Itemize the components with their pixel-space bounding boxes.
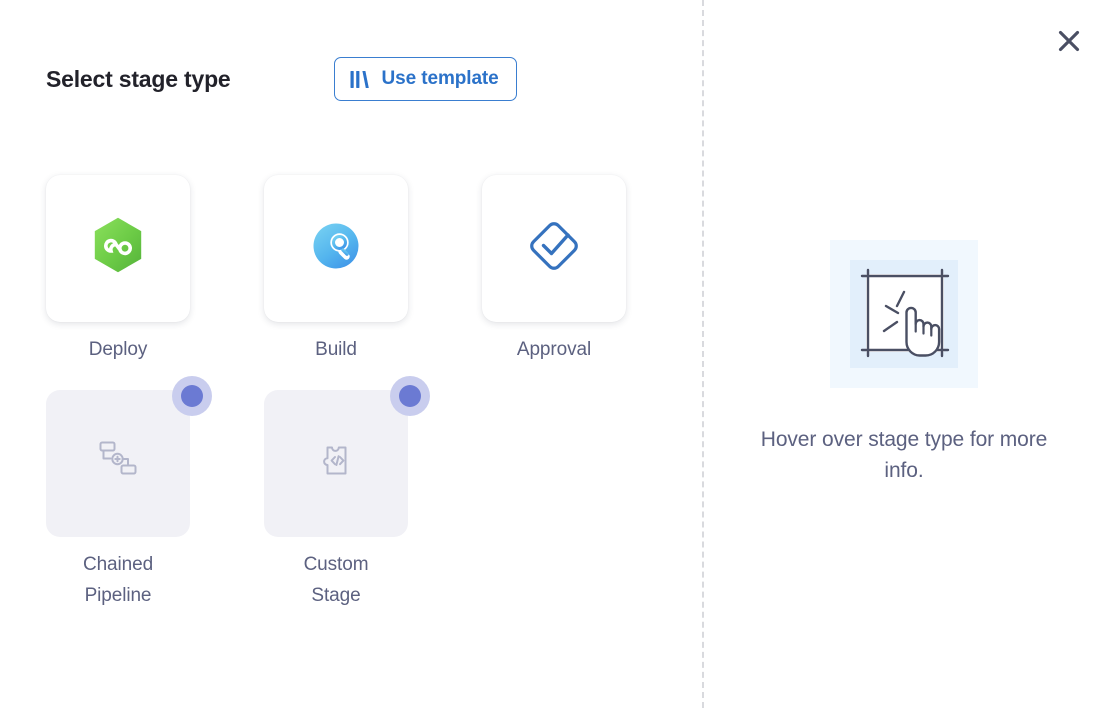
stage-type-approval[interactable]: Approval — [482, 175, 626, 365]
stage-label: Custom Stage — [304, 549, 369, 611]
stage-label: Chained Pipeline — [83, 549, 153, 611]
stage-label: Build — [315, 334, 357, 365]
hover-hint-text: Hover over stage type for more info. — [754, 424, 1054, 486]
stage-type-picker-pane: Select stage type Use template — [0, 0, 702, 708]
stage-type-build[interactable]: Build — [264, 175, 408, 365]
use-template-label: Use template — [382, 68, 499, 90]
status-badge — [172, 376, 212, 416]
page-title: Select stage type — [46, 65, 231, 93]
click-hand-square-illustration — [830, 240, 978, 388]
approval-diamond-check-icon — [528, 220, 580, 277]
stage-card[interactable] — [482, 175, 626, 322]
build-magnifier-circle-icon — [310, 220, 362, 277]
picker-header: Select stage type Use template — [46, 57, 517, 101]
stage-label: Deploy — [89, 334, 148, 365]
custom-stage-puzzle-code-icon — [314, 439, 358, 488]
stage-type-grid: Deploy — [46, 175, 666, 611]
stage-type-deploy[interactable]: Deploy — [46, 175, 190, 365]
stage-type-custom-stage: Custom Stage — [264, 390, 408, 611]
template-bars-icon — [350, 70, 372, 89]
status-badge — [390, 376, 430, 416]
hover-hint: Hover over stage type for more info. — [702, 240, 1106, 486]
stage-card[interactable] — [46, 175, 190, 322]
close-icon — [1056, 28, 1082, 54]
use-template-button[interactable]: Use template — [334, 57, 517, 101]
stage-info-pane: Hover over stage type for more info. — [702, 0, 1106, 708]
select-stage-type-modal: Select stage type Use template — [0, 0, 1106, 708]
stage-card[interactable] — [264, 175, 408, 322]
stage-type-chained-pipeline: Chained Pipeline — [46, 390, 190, 611]
chained-pipeline-icon — [95, 438, 141, 489]
deploy-hexagon-infinity-icon — [91, 216, 145, 281]
stage-card — [46, 390, 190, 537]
stage-label: Approval — [517, 334, 591, 365]
stage-card — [264, 390, 408, 537]
close-button[interactable] — [1052, 24, 1086, 58]
